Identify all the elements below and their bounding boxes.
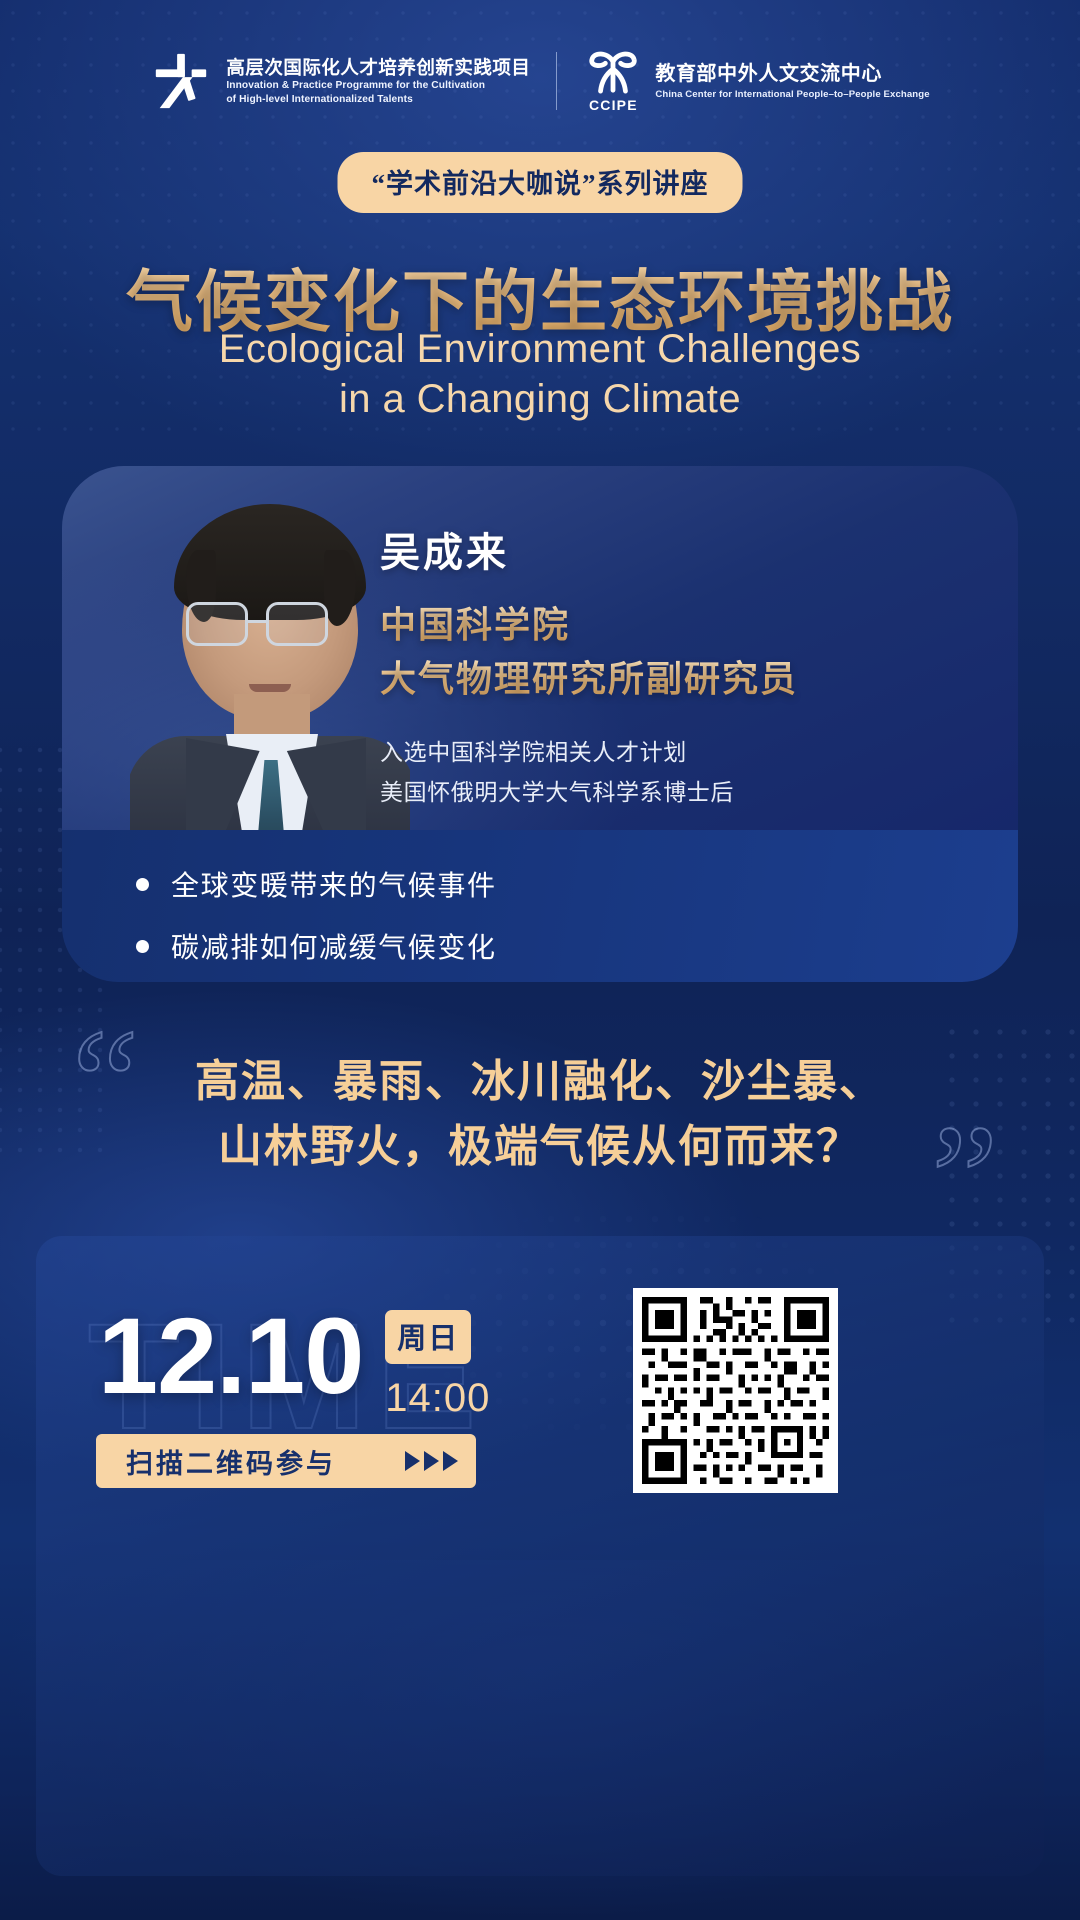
portrait-glasses-right — [266, 602, 328, 646]
topic-list: 全球变暖带来的气候事件 碳减排如何减缓气候变化 — [62, 830, 1018, 982]
speaker-credential-1: 美国怀俄明大学大气科学系博士后 — [380, 772, 1000, 812]
speaker-credential-0: 入选中国科学院相关人才计划 — [380, 732, 1000, 772]
header-logos: 高层次国际化人才培养创新实践项目 Innovation & Practice P… — [0, 48, 1080, 114]
bullet-dot-icon — [136, 940, 149, 953]
speaker-affiliation-line1: 中国科学院 — [380, 598, 1000, 652]
qr-code[interactable] — [633, 1288, 838, 1493]
topic-label-0: 全球变暖带来的气候事件 — [171, 864, 497, 904]
logo-talent-programme: 高层次国际化人才培养创新实践项目 Innovation & Practice P… — [150, 50, 530, 112]
speaker-credentials: 入选中国科学院相关人才计划 美国怀俄明大学大气科学系博士后 — [380, 732, 1000, 813]
ccipe-abbr: CCIPE — [583, 97, 643, 113]
logo-right-cn: 教育部中外人文交流中心 — [655, 62, 929, 86]
scan-qr-label: 扫描二维码参与 — [126, 1442, 336, 1481]
logo-ccipe: CCIPE 教育部中外人文交流中心 China Center for Inter… — [583, 48, 929, 114]
talent-mark-icon — [150, 50, 212, 112]
logo-right-en: China Center for International People–to… — [655, 89, 929, 100]
bullet-dot-icon — [136, 878, 149, 891]
page-title-en-line2: in a Changing Climate — [0, 375, 1080, 425]
qr-code-image — [642, 1297, 829, 1484]
speaker-name: 吴成来 — [380, 520, 1000, 578]
portrait-mouth — [249, 684, 291, 692]
ccipe-figure-icon — [584, 48, 642, 94]
speaker-portrait — [130, 498, 410, 858]
speaker-info: 吴成来 中国科学院 大气物理研究所副研究员 入选中国科学院相关人才计划 美国怀俄… — [380, 520, 1000, 813]
series-banner: “学术前沿大咖说”系列讲座 — [338, 152, 743, 213]
logo-divider — [556, 52, 557, 110]
topic-label-1: 碳减排如何减缓气候变化 — [171, 926, 497, 966]
page-title-en-line1: Ecological Environment Challenges — [0, 325, 1080, 375]
list-item: 全球变暖带来的气候事件 — [136, 864, 1018, 904]
page-title-en: Ecological Environment Challenges in a C… — [0, 325, 1080, 424]
list-item: 碳减排如何减缓气候变化 — [136, 926, 1018, 966]
logo-left-en-1: Innovation & Practice Programme for the … — [226, 79, 530, 93]
poster-root: 高层次国际化人才培养创新实践项目 Innovation & Practice P… — [0, 0, 1080, 1920]
event-date: 12.10 — [98, 1302, 363, 1410]
date-block: 12.10 周日 14:00 — [98, 1302, 490, 1421]
quote-block: “ ” 高温、暴雨、冰川融化、沙尘暴、 山林野火，极端气候从何而来？ — [46, 1005, 1034, 1225]
quote-line-1: 高温、暴雨、冰川融化、沙尘暴、 — [46, 1049, 1034, 1114]
quote-text: 高温、暴雨、冰川融化、沙尘暴、 山林野火，极端气候从何而来？ — [46, 1049, 1034, 1179]
weekday-badge: 周日 — [385, 1310, 471, 1364]
speaker-affiliation-line2: 大气物理研究所副研究员 — [380, 652, 1000, 706]
quote-line-2: 山林野火，极端气候从何而来？ — [46, 1114, 1034, 1179]
event-time: 14:00 — [385, 1376, 490, 1421]
portrait-glasses-left — [186, 602, 248, 646]
portrait-glasses-bridge — [248, 620, 266, 623]
scan-qr-button[interactable]: 扫描二维码参与 — [96, 1434, 476, 1488]
logo-left-cn: 高层次国际化人才培养创新实践项目 — [226, 56, 530, 79]
arrows-icon — [405, 1451, 458, 1471]
logo-left-en-2: of High-level Internationalized Talents — [226, 93, 530, 107]
